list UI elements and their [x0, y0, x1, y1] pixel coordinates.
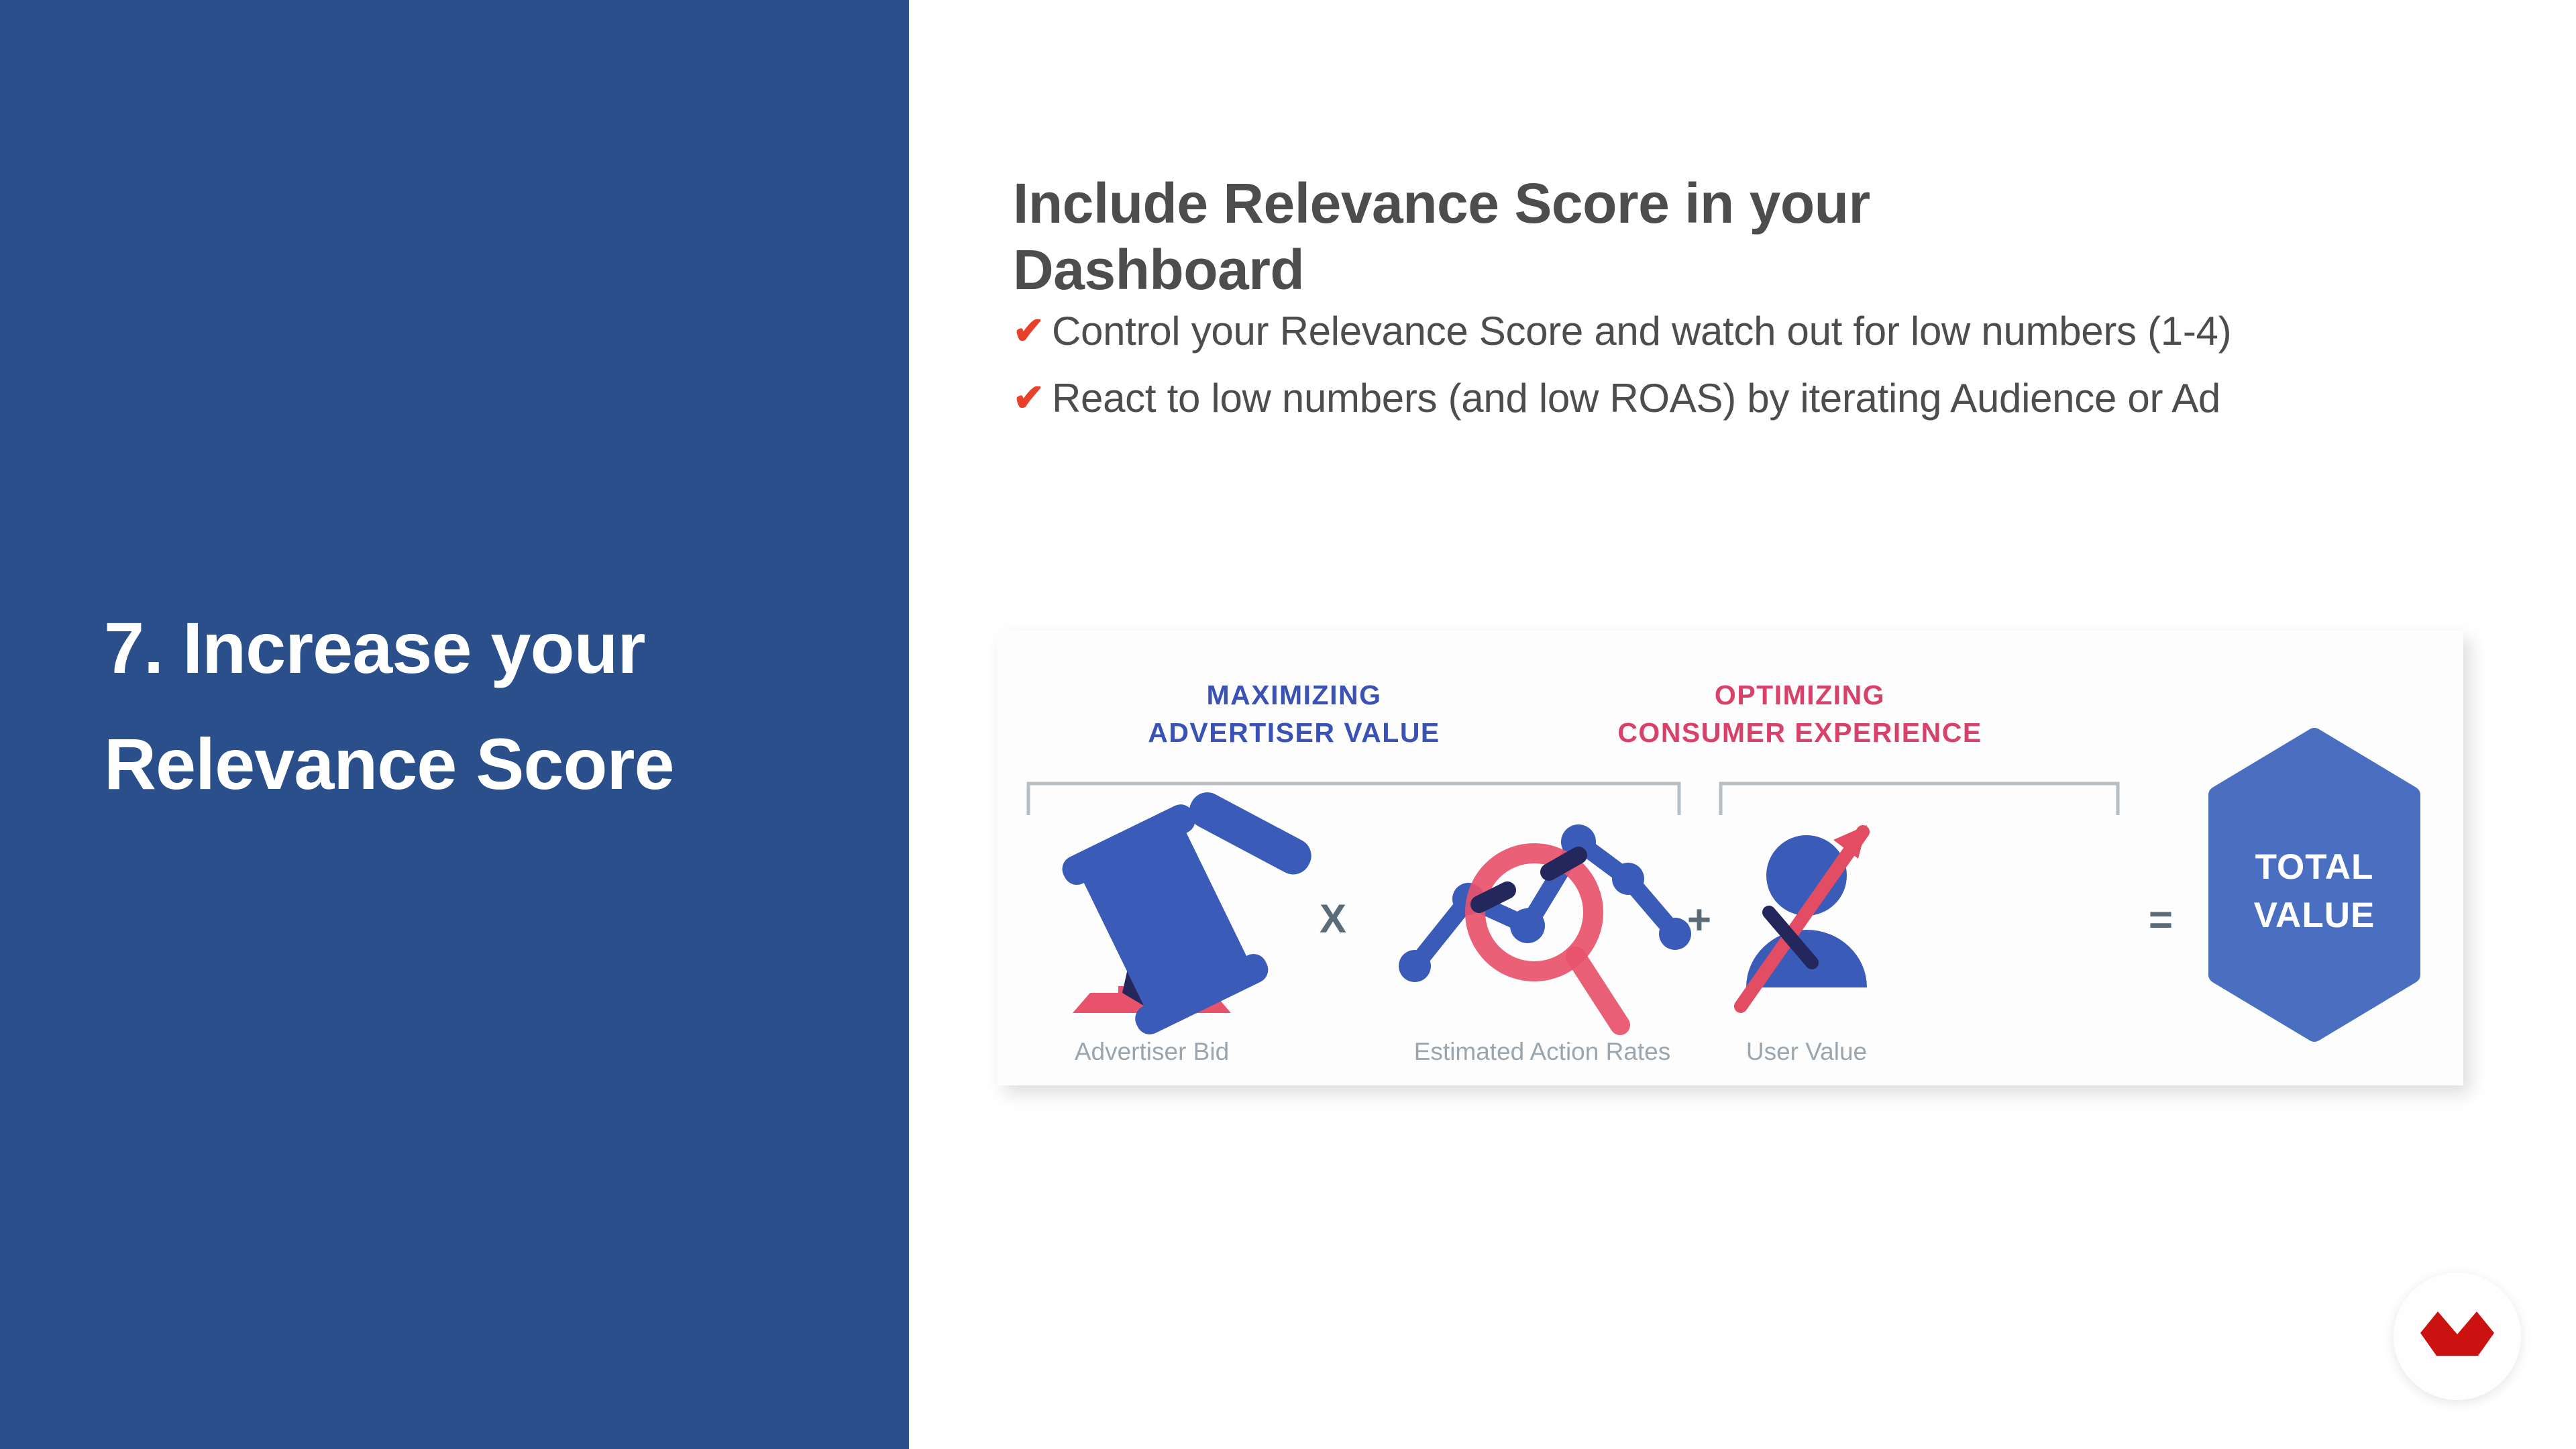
item-label-advertiser-bid: Advertiser Bid	[1075, 1038, 1229, 1065]
total-value-line2: VALUE	[2254, 896, 2375, 935]
total-value-badge: TOTAL VALUE	[2217, 737, 2412, 1033]
check-icon: ✔	[1013, 372, 1052, 422]
list-item-label: Control your Relevance Score and watch o…	[1052, 305, 2328, 358]
slide-root: 7. Increase your Relevance Score Include…	[0, 0, 2576, 1449]
section-title-text: Increase your Relevance Score	[104, 607, 674, 804]
item-label-user-value: User Value	[1746, 1038, 1867, 1065]
group-heading-2-line2: CONSUMER EXPERIENCE	[1617, 717, 1982, 748]
section-number: 7.	[104, 607, 163, 688]
left-blue-panel: 7. Increase your Relevance Score	[0, 0, 909, 1449]
total-value-line1: TOTAL	[2255, 847, 2374, 887]
list-item-label: React to low numbers (and low ROAS) by i…	[1052, 372, 2328, 425]
bullet-list: ✔ Control your Relevance Score and watch…	[1013, 305, 2328, 439]
chart-node	[1659, 918, 1691, 950]
multiply-operator: X	[1320, 896, 1346, 941]
chart-node	[1612, 863, 1644, 895]
group-heading-1-line2: ADVERTISER VALUE	[1148, 717, 1440, 748]
page-title: Include Relevance Score in your Dashboar…	[1013, 170, 2140, 303]
equals-operator: =	[2149, 897, 2173, 943]
chart-node	[1510, 908, 1545, 943]
facebook-ad-auction-diagram: MAXIMIZING ADVERTISER VALUE OPTIMIZING C…	[998, 631, 2463, 1085]
group-heading-1-line1: MAXIMIZING	[1207, 680, 1382, 710]
list-item: ✔ Control your Relevance Score and watch…	[1013, 305, 2328, 358]
check-icon: ✔	[1013, 305, 1052, 355]
plus-operator: +	[1687, 897, 1711, 943]
item-label-estimated-action-rates: Estimated Action Rates	[1414, 1038, 1671, 1065]
section-title: 7. Increase your Relevance Score	[104, 590, 842, 822]
group-heading-2-line1: OPTIMIZING	[1715, 680, 1885, 710]
infographic-card: MAXIMIZING ADVERTISER VALUE OPTIMIZING C…	[998, 631, 2463, 1085]
brand-logo[interactable]	[2394, 1273, 2521, 1400]
red-chevron-crown-icon	[2420, 1309, 2494, 1364]
chart-node	[1399, 950, 1431, 982]
list-item: ✔ React to low numbers (and low ROAS) by…	[1013, 372, 2328, 425]
